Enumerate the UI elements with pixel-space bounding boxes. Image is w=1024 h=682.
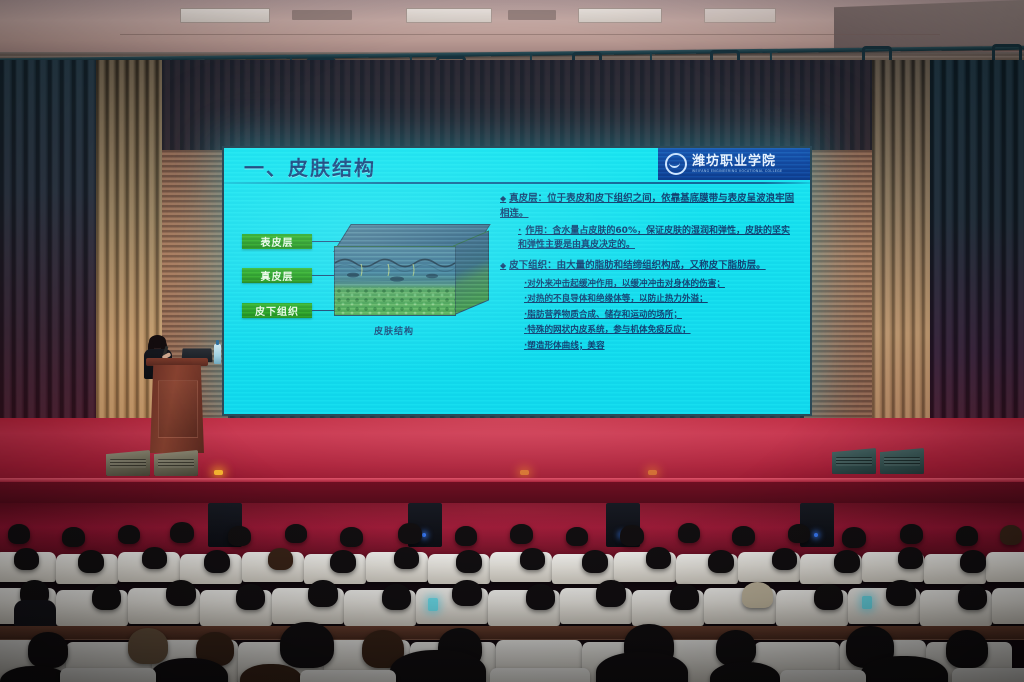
college-emblem-icon [665, 153, 687, 175]
bullet-item: ·脂肪营养物质合成、储存和运动的场所； [524, 309, 796, 322]
stage-floor-light [648, 470, 657, 475]
bullet-item: ·特殊的网状内皮系统，参与机体免疫反应； [524, 324, 796, 337]
diagram-label-dermis: 真皮层 [242, 268, 312, 283]
skin-front-face [334, 246, 456, 316]
diagram-caption: 皮肤结构 [374, 324, 414, 337]
ceiling-light-panel [704, 8, 776, 23]
water-bottle [214, 344, 221, 364]
college-name-cn: 潍坊职业学院 [692, 155, 782, 169]
skin-side-face [453, 230, 489, 315]
stage-floor-light [214, 470, 223, 475]
slide-bullet-list: ◆真皮层：位于表皮和皮下组织之间，依靠基底膜带与表皮呈波浪牢固相连。 ·作用：含… [500, 192, 796, 355]
stage-monitor-speaker [106, 450, 150, 476]
ceiling-vent [292, 10, 352, 20]
bullet-marker-diamond: ◆ [500, 194, 506, 203]
phone-screen-glow [862, 596, 872, 609]
stage-monitor-speaker [154, 450, 198, 476]
bullet-marker-diamond: ◆ [500, 261, 506, 270]
bullet-item: ·对热的不良导体和绝缘体等，以防止热力外溢； [524, 293, 796, 306]
stage-monitor-speaker [880, 448, 924, 474]
diagram-label-subcutaneous: 皮下组织 [242, 303, 312, 318]
bullet-item: ◆皮下组织：由大量的脂肪和结缔组织构成，又称皮下脂肪层。 [500, 259, 796, 274]
skin-cross-section-diagram [334, 224, 486, 316]
rear-wall-right [804, 150, 880, 420]
diagram-label-epidermis: 表皮层 [242, 234, 312, 249]
bullet-item: ·塑造形体曲线；美容 [524, 340, 796, 353]
bullet-item: ·作用：含水量占皮肤的60%，保证皮肤的湿润和弹性，皮肤的坚实和弹性主要是由真皮… [518, 225, 796, 253]
bullet-marker-dot: · [518, 226, 521, 236]
bullet-item: ·对外来冲击起缓冲作用，以缓冲冲击对身体的伤害； [524, 278, 796, 291]
ceiling-light-panel [180, 8, 270, 23]
bullet-item: ◆真皮层：位于表皮和皮下组织之间，依靠基底膜带与表皮呈波浪牢固相连。 [500, 192, 796, 221]
slide-title-rule [224, 182, 810, 184]
ceiling-vent [508, 10, 556, 20]
ceiling-light-panel [406, 8, 492, 23]
slide-title: 一、皮肤结构 [244, 152, 376, 181]
ceiling-light-panel [578, 8, 662, 23]
subcutaneous-fat-texture [335, 287, 455, 315]
phone-screen-glow [428, 598, 438, 611]
audience-seating [0, 500, 1024, 682]
college-name-en: WEIFANG ENGINEERING VOCATIONAL COLLEGE [692, 169, 782, 173]
stage-monitor-speaker [832, 448, 876, 474]
lecture-hall-photo: 一、皮肤结构 潍坊职业学院 WEIFANG ENGINEERING VOCATI… [0, 0, 1024, 682]
lectern [146, 358, 208, 454]
college-logo-banner: 潍坊职业学院 WEIFANG ENGINEERING VOCATIONAL CO… [658, 148, 810, 180]
ceiling-seam [120, 34, 940, 35]
presentation-slide: 一、皮肤结构 潍坊职业学院 WEIFANG ENGINEERING VOCATI… [224, 148, 810, 414]
led-projection-screen: 一、皮肤结构 潍坊职业学院 WEIFANG ENGINEERING VOCATI… [222, 146, 812, 416]
stage-floor-light [520, 470, 529, 475]
